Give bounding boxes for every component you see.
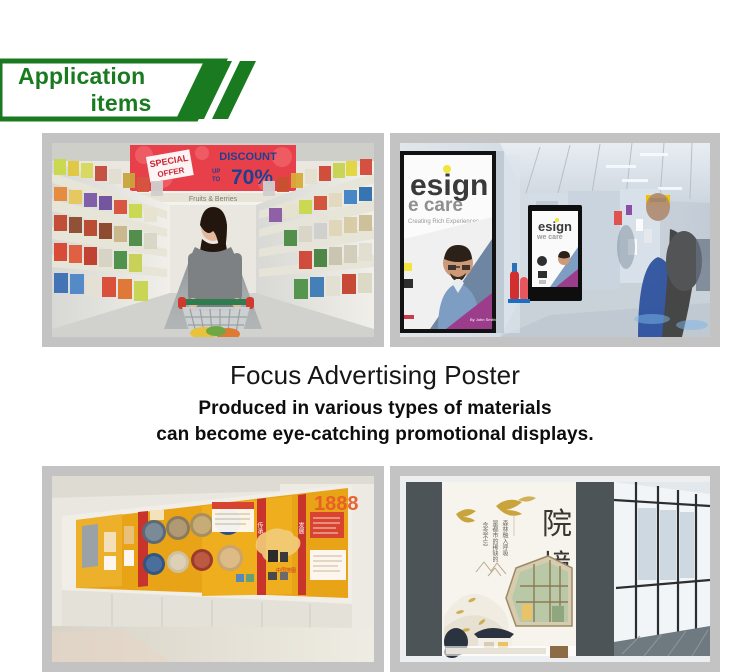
svg-text:esign: esign	[538, 219, 572, 234]
application-items-page: Application items	[0, 0, 750, 672]
svg-text:念念不忘: 念念不忘	[481, 521, 488, 546]
svg-text:DISCOUNT: DISCOUNT	[219, 151, 277, 163]
svg-text:院: 院	[542, 508, 572, 541]
photo-frame-exhibition-wall: 1888	[42, 466, 384, 672]
section-header-banner: Application items	[0, 58, 262, 122]
caption-title: Focus Advertising Poster	[0, 358, 750, 392]
gallery-row-top: SPECIAL OFFER DISCOUNT UP TO 70% Fruits …	[42, 133, 712, 347]
banner-title-line1: Application	[18, 63, 230, 90]
caption-subtitle-line2: can become eye-catching promotional disp…	[0, 422, 750, 448]
photo-exhibition-wall: 1888	[52, 476, 374, 662]
caption-subtitle-line1: Produced in various types of materials	[0, 396, 750, 422]
photo-chinese-style-poster: 院 境 森林融入呼吸 是都市的稀缺的 念念不忘	[400, 476, 710, 662]
svg-text:By John Smith: By John Smith	[470, 317, 496, 322]
svg-text:e care: e care	[408, 195, 463, 216]
svg-text:森林融入呼吸: 森林融入呼吸	[501, 519, 508, 557]
svg-text:Fruits & Berries: Fruits & Berries	[189, 196, 238, 203]
photo-frame-chinese-style-poster: 院 境 森林融入呼吸 是都市的稀缺的 念念不忘	[390, 466, 720, 672]
svg-text:传承: 传承	[256, 521, 263, 534]
photo-supermarket-aisle: SPECIAL OFFER DISCOUNT UP TO 70% Fruits …	[52, 143, 374, 337]
photo-frame-supermarket-aisle: SPECIAL OFFER DISCOUNT UP TO 70% Fruits …	[42, 133, 384, 347]
gallery-row-bottom: 1888	[42, 466, 712, 672]
banner-text-block: Application items	[0, 58, 230, 122]
svg-text:发展: 发展	[297, 521, 304, 535]
svg-text:是都市的稀缺的: 是都市的稀缺的	[491, 520, 498, 563]
svg-text:1888: 1888	[314, 493, 359, 515]
banner-title-line2: items	[18, 90, 230, 117]
svg-text:UP: UP	[212, 169, 220, 175]
svg-text:TO: TO	[212, 177, 221, 183]
photo-digital-signage-corridor: esign e care Creating Rich Experiences	[400, 143, 710, 337]
svg-text:we care: we care	[536, 234, 563, 241]
caption-block: Focus Advertising Poster Produced in var…	[0, 358, 750, 448]
photo-frame-digital-signage-corridor: esign e care Creating Rich Experiences	[390, 133, 720, 347]
